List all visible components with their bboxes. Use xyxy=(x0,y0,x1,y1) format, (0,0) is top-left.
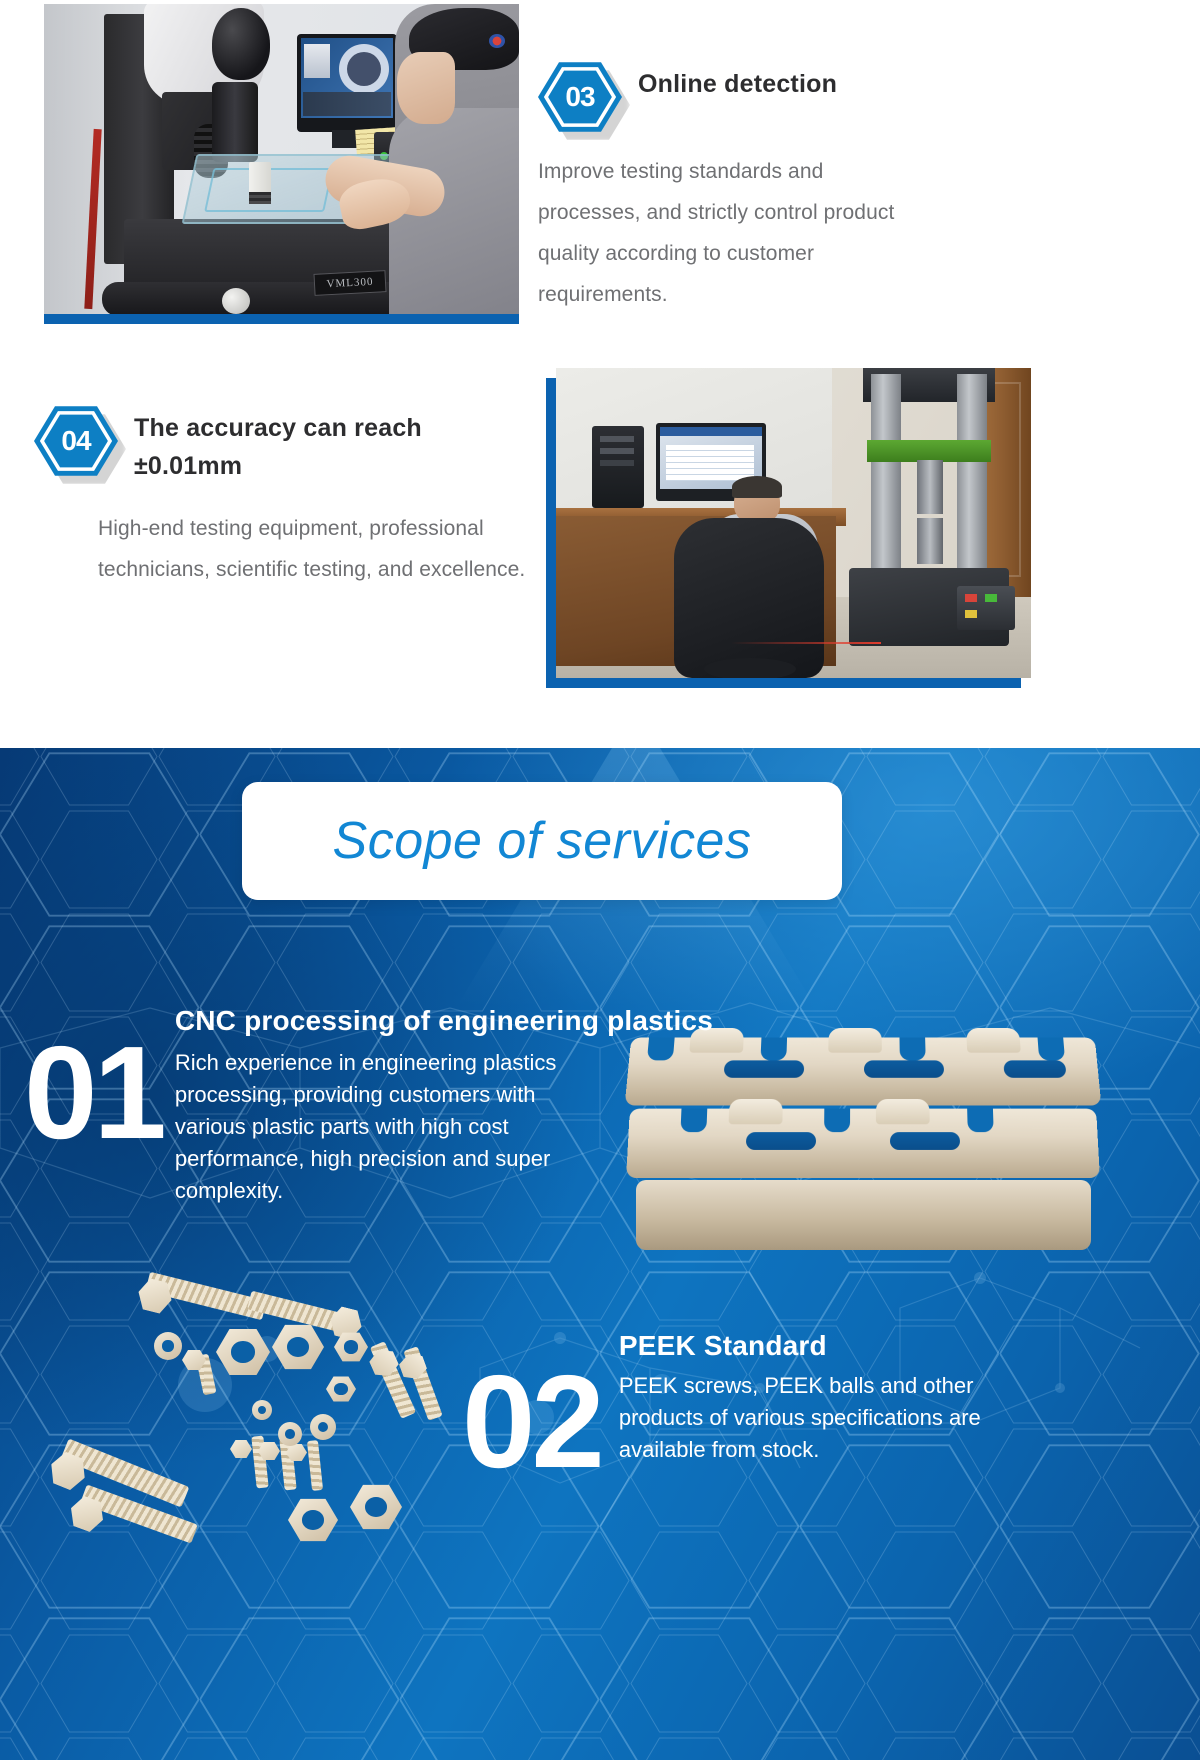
service-block-02: 02 PEEK Standard PEEK screws, PEEK balls… xyxy=(462,1330,1082,1488)
service-02-title: PEEK Standard xyxy=(619,1330,1029,1362)
feature-number: 04 xyxy=(34,404,118,478)
online-detection-photo-frame: VML300 xyxy=(44,14,519,324)
feature-number: 03 xyxy=(538,60,622,134)
video-measuring-machine-image: VML300 xyxy=(44,4,519,314)
banner-title: Scope of services xyxy=(333,811,752,871)
peek-screws-nuts-photo xyxy=(34,1272,464,1562)
peek-chain-links-photo xyxy=(628,1030,1098,1275)
tensile-testing-machine-image xyxy=(556,368,1031,678)
accuracy-testing-photo-frame xyxy=(546,378,1021,688)
hexagon-badge-icon: 03 xyxy=(538,60,622,134)
machine-model-label: VML300 xyxy=(313,270,386,296)
service-01-text: CNC processing of engineering plastics R… xyxy=(175,1005,605,1206)
top-features-section: VML300 03 Online detection Improve testi… xyxy=(0,0,1200,748)
service-02-number-wrap: 02 xyxy=(462,1330,601,1488)
service-01-title: CNC processing of engineering plastics xyxy=(175,1005,605,1037)
accuracy-testing-photo xyxy=(556,368,1031,678)
service-02-text: PEEK Standard PEEK screws, PEEK balls an… xyxy=(619,1330,1029,1466)
service-block-01: 01 CNC processing of engineering plastic… xyxy=(24,1005,644,1206)
scope-of-services-banner: Scope of services xyxy=(242,782,842,900)
service-01-number-wrap: 01 xyxy=(24,1005,163,1159)
feature-03-header: 03 Online detection xyxy=(538,60,1158,134)
service-01-body: Rich experience in engineering plastics … xyxy=(175,1047,605,1206)
feature-04-title: The accuracy can reach ±0.01mm xyxy=(134,404,484,485)
feature-03-body: Improve testing standards and processes,… xyxy=(538,152,918,316)
feature-block-03: 03 Online detection Improve testing stan… xyxy=(538,60,1158,316)
service-number: 02 xyxy=(462,1356,601,1488)
feature-04-body: High-end testing equipment, professional… xyxy=(98,509,528,591)
feature-03-title: Online detection xyxy=(638,60,837,104)
service-number: 01 xyxy=(24,1027,163,1159)
service-02-body: PEEK screws, PEEK balls and other produc… xyxy=(619,1370,1029,1466)
feature-04-header: 04 The accuracy can reach ±0.01mm xyxy=(34,404,534,485)
feature-block-04: 04 The accuracy can reach ±0.01mm High-e… xyxy=(34,404,534,591)
online-detection-photo: VML300 xyxy=(44,4,519,314)
hexagon-badge-icon: 04 xyxy=(34,404,118,478)
